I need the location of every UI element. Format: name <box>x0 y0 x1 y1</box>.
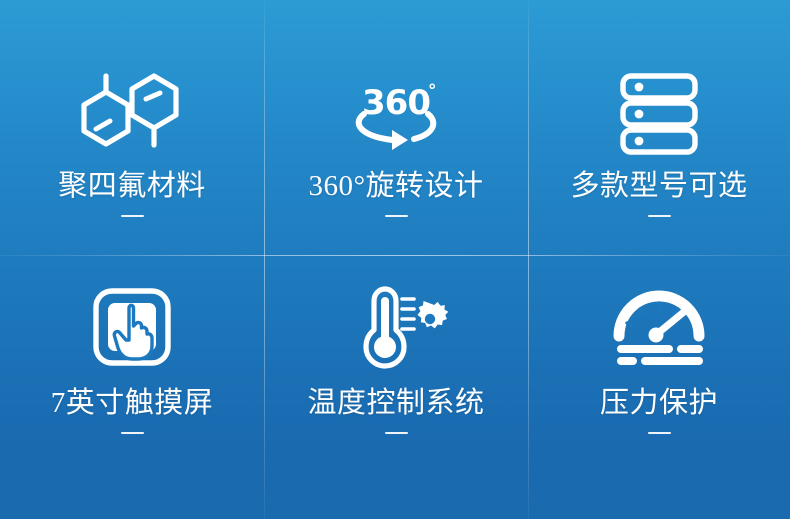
touchscreen-hand-icon <box>72 285 192 369</box>
label-underline-dash <box>385 215 408 217</box>
feature-highlights-banner: 聚四氟材料 360 ° 360°旋转设计 <box>0 0 790 519</box>
feature-label: 压力保护 <box>600 389 718 418</box>
label-underline-dash <box>121 432 144 434</box>
label-underline-dash <box>385 432 408 434</box>
feature-cell-model-options[interactable]: 多款型号可选 <box>528 0 790 255</box>
feature-grid: 聚四氟材料 360 ° 360°旋转设计 <box>0 0 790 519</box>
feature-cell-touchscreen[interactable]: 7英寸触摸屏 <box>0 255 264 519</box>
molecule-hexagons-icon <box>72 72 192 156</box>
feature-cell-ptfe-material[interactable]: 聚四氟材料 <box>0 0 264 255</box>
thermometer-gear-icon <box>336 285 456 369</box>
feature-label: 360°旋转设计 <box>308 172 483 201</box>
rotate-360-icon: 360 ° <box>336 72 456 156</box>
feature-cell-rotation-design[interactable]: 360 ° 360°旋转设计 <box>264 0 528 255</box>
feature-cell-temperature-control[interactable]: 温度控制系统 <box>264 255 528 519</box>
feature-label: 多款型号可选 <box>570 172 747 201</box>
server-stack-icon <box>599 72 719 156</box>
rotate-360-icon-degree: ° <box>428 81 437 101</box>
feature-label: 7英寸触摸屏 <box>51 389 214 418</box>
pressure-gauge-icon <box>599 285 719 369</box>
feature-label: 聚四氟材料 <box>58 172 206 201</box>
label-underline-dash <box>648 432 671 434</box>
label-underline-dash <box>121 215 144 217</box>
feature-cell-pressure-protection[interactable]: 压力保护 <box>528 255 790 519</box>
rotate-360-icon-number: 360 <box>362 83 430 123</box>
label-underline-dash <box>648 215 671 217</box>
feature-label: 温度控制系统 <box>307 389 484 418</box>
